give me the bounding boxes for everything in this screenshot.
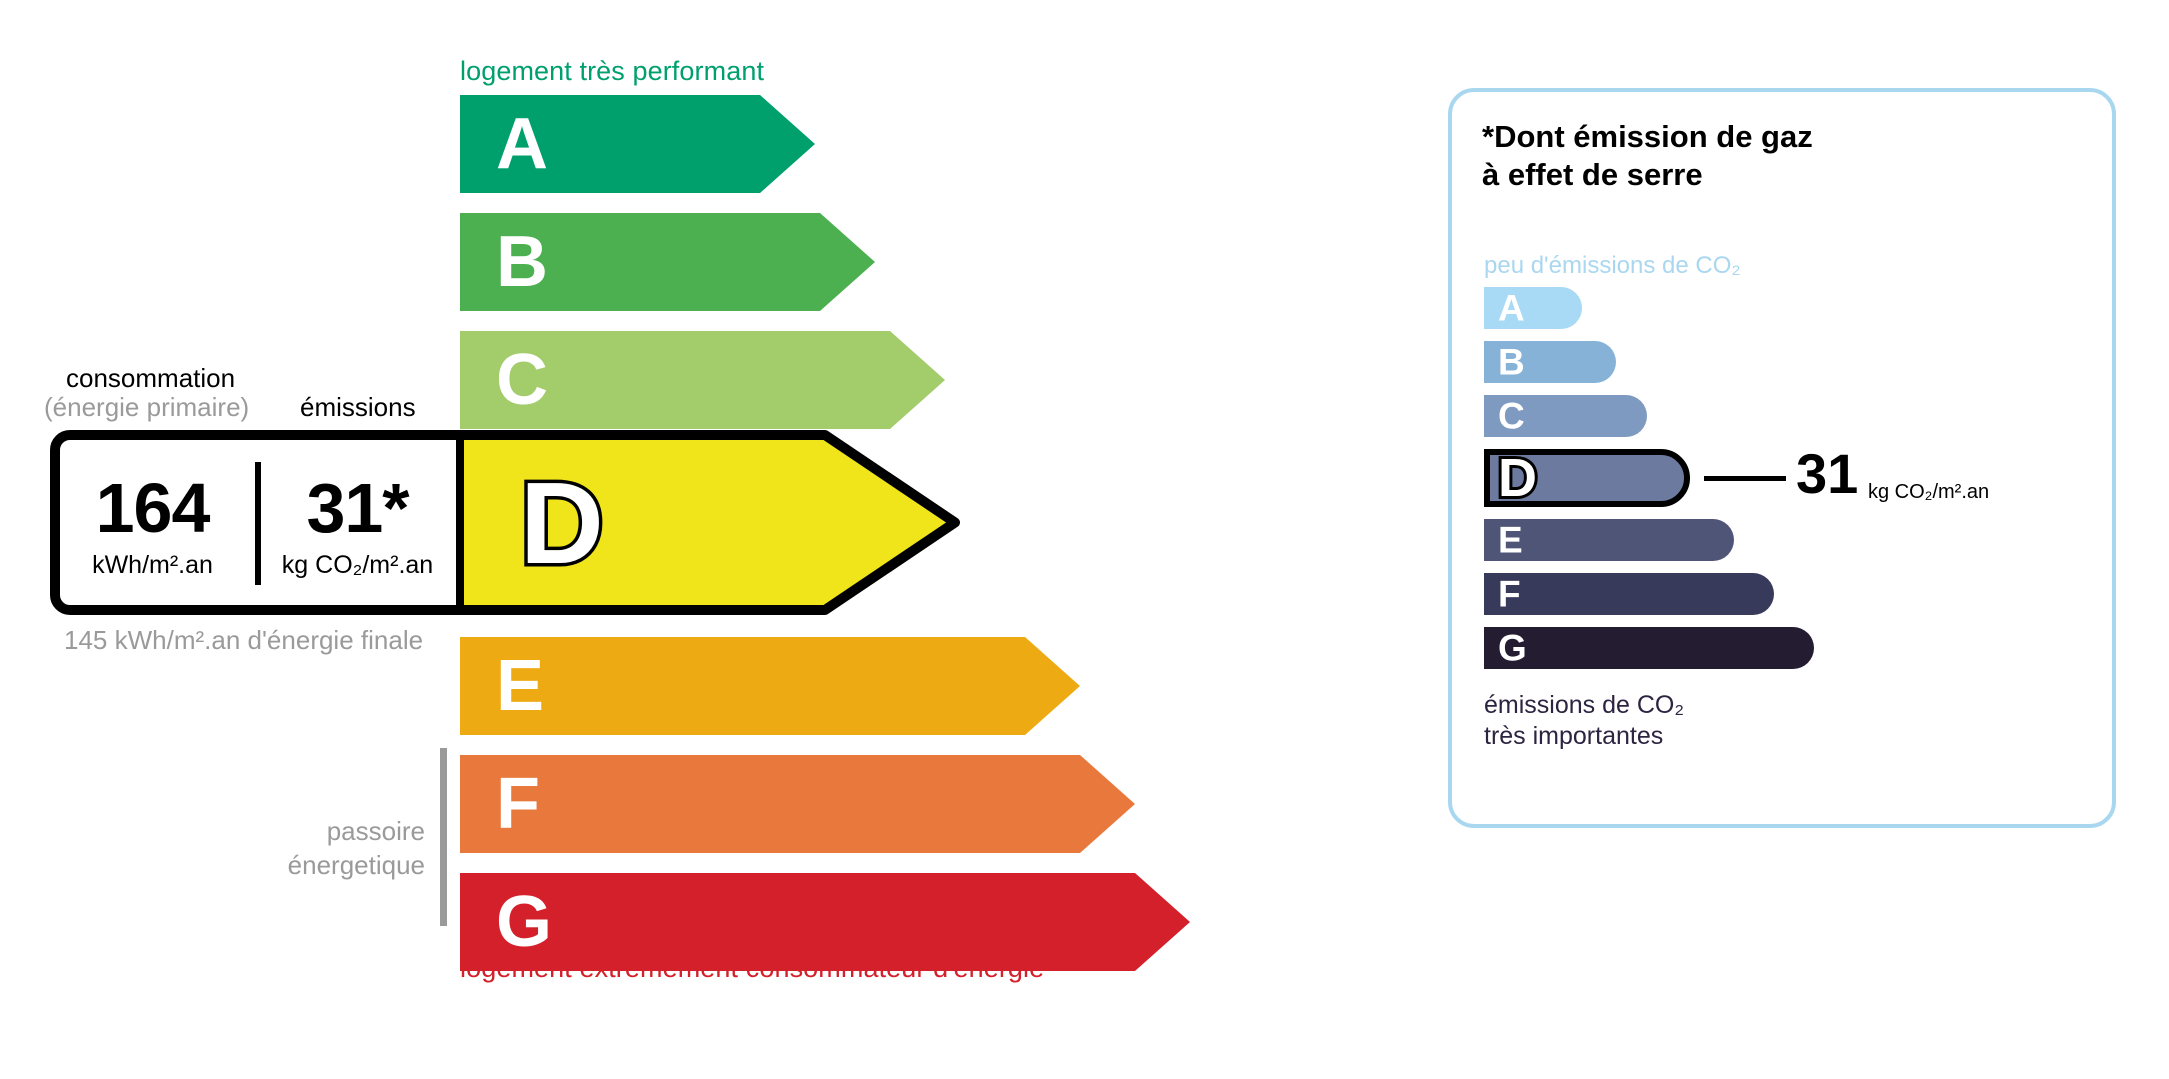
co2-bar-letter-b: B [1498, 344, 1525, 381]
co2-emissions-panel: *Dont émission de gaz à effet de serre p… [1448, 88, 2116, 828]
co2-bar-a[interactable]: A [1484, 287, 1582, 329]
co2-bar-letter-f: F [1498, 576, 1521, 613]
co2-bar-e[interactable]: E [1484, 519, 1734, 561]
co2-bar-letter-e: E [1498, 522, 1523, 559]
emissions-unit: kg CO₂/m².an [282, 553, 433, 578]
dpe-label: logement très performant ABCEFG 164 kWh/… [0, 0, 2169, 1079]
emissions-value: 31* [306, 473, 408, 543]
energy-band-letter-b: B [496, 226, 548, 298]
co2-caption-top: peu d'émissions de CO₂ [1484, 252, 1741, 280]
energy-band-shape-e [460, 637, 1080, 735]
co2-bar-f[interactable]: F [1484, 573, 1774, 615]
energy-band-shape-f [460, 755, 1135, 853]
consumption-value-cell: 164 kWh/m².an [50, 430, 255, 615]
energy-band-letter-f: F [496, 768, 540, 840]
emissions-value-cell: 31* kg CO₂/m².an [255, 430, 460, 615]
co2-bar-shape-g [1484, 627, 1814, 669]
energy-band-a[interactable]: A [460, 95, 815, 193]
energy-band-b[interactable]: B [460, 213, 875, 311]
passoire-label: passoire énergetique [240, 815, 425, 883]
energy-consumption-scale: logement très performant ABCEFG 164 kWh/… [0, 0, 1400, 1079]
label-consommation: consommation [66, 363, 235, 394]
co2-bar-letter-g: G [1498, 630, 1527, 667]
co2-bar-g[interactable]: G [1484, 627, 1814, 669]
label-emissions: émissions [300, 392, 416, 423]
energy-band-c[interactable]: C [460, 331, 945, 429]
current-class-row[interactable]: 164 kWh/m².an 31* kg CO₂/m².an D [50, 430, 960, 615]
co2-callout-line [1704, 476, 1786, 481]
energy-band-f[interactable]: F [460, 755, 1135, 853]
scale-caption-top: logement très performant [460, 56, 764, 87]
energy-band-e[interactable]: E [460, 637, 1080, 735]
energy-band-letter-a: A [496, 108, 548, 180]
co2-bar-letter-d: D [1498, 451, 1537, 505]
co2-bar-letter-a: A [1498, 290, 1525, 327]
consumption-value: 164 [96, 473, 210, 543]
co2-bar-c[interactable]: C [1484, 395, 1647, 437]
co2-bar-shape-f [1484, 573, 1774, 615]
co2-bar-letter-c: C [1498, 398, 1525, 435]
co2-panel-title: *Dont émission de gaz à effet de serre [1482, 118, 1813, 194]
co2-caption-bottom: émissions de CO₂ très importantes [1484, 690, 1684, 752]
current-class-letter: D [520, 465, 604, 581]
co2-callout-value: 31 [1796, 446, 1858, 502]
final-energy-note: 145 kWh/m².an d'énergie finale [64, 624, 423, 657]
energy-band-letter-c: C [496, 344, 548, 416]
energy-band-letter-g: G [496, 886, 552, 958]
consumption-unit: kWh/m².an [92, 553, 213, 578]
scale-caption-bottom: logement extrêmement consommateur d'éner… [460, 953, 1044, 984]
energy-band-letter-e: E [496, 650, 544, 722]
value-box: 164 kWh/m².an 31* kg CO₂/m².an [50, 430, 460, 615]
co2-callout-unit: kg CO₂/m².an [1868, 482, 1989, 502]
co2-bar-b[interactable]: B [1484, 341, 1616, 383]
co2-bar-d[interactable]: D [1484, 449, 1690, 507]
label-energie-primaire: (énergie primaire) [44, 392, 249, 423]
passoire-marker-bar [440, 748, 447, 926]
